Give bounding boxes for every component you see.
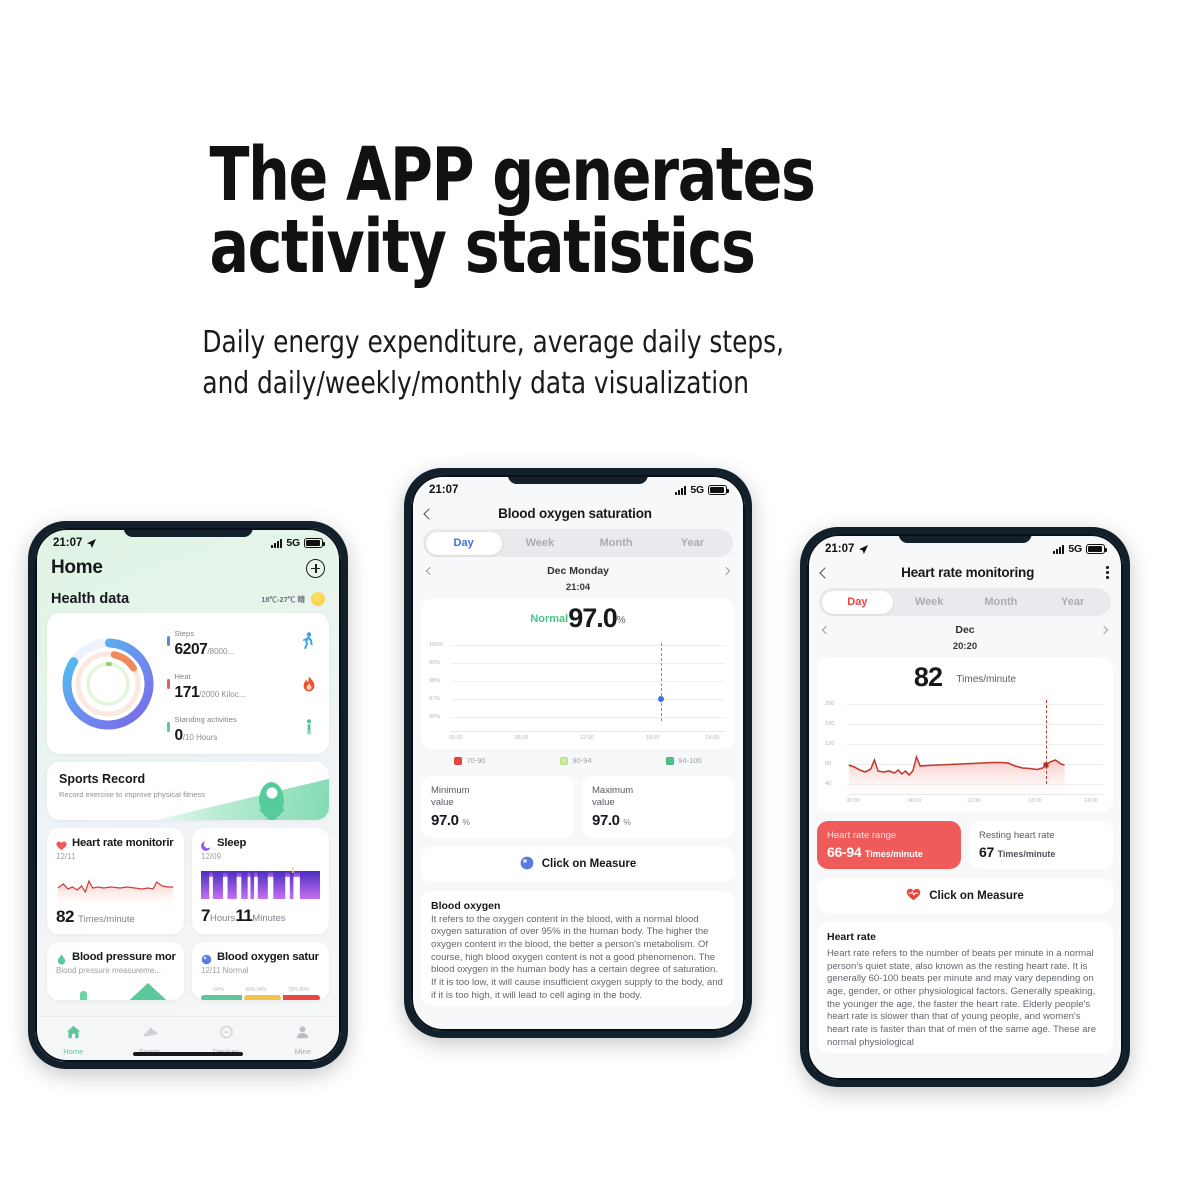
- legend-item: 90-94: [560, 756, 591, 765]
- status-left: 21:07: [53, 537, 97, 549]
- info-title: Blood oxygen: [431, 900, 725, 912]
- signal-bars-icon: [271, 539, 283, 548]
- sports-record-card[interactable]: Sports Record Record exercise to improve…: [47, 762, 329, 820]
- card-date: 12/11: [56, 852, 175, 861]
- axis-line: [847, 794, 1103, 795]
- minimum-number: 97.0: [431, 812, 459, 829]
- stat-tick: [167, 636, 170, 646]
- chart-legend: 70-90 90-94 94-100: [411, 749, 745, 768]
- gridline: [451, 663, 725, 664]
- network-label: 5G: [286, 537, 300, 549]
- y-tick: 98%: [429, 678, 440, 684]
- date-navigator: Dec: [807, 616, 1123, 638]
- card-title: Blood oxygen satur: [217, 951, 319, 963]
- card-blood-oxygen[interactable]: Blood oxygen satur 12/11 Normal <94% 90%…: [192, 942, 329, 1000]
- bo-tick: 70%-89%: [288, 987, 310, 993]
- reading-timestamp: 21:04: [411, 579, 745, 593]
- reading-unit: Times/minute: [956, 674, 1016, 685]
- bo-tick: 90%-94%: [245, 987, 267, 993]
- health-data-row: Health data 18℃-27℃ 晴: [35, 581, 341, 613]
- card-sleep[interactable]: Sleep 12/09: [192, 828, 329, 934]
- legend-label: 94-100: [678, 756, 701, 765]
- info-title: Heart rate: [827, 931, 1103, 943]
- stat-goal: /2000 Kiloc...: [199, 690, 245, 699]
- ring-stat-list: Steps 6207/8000... Heat 171/2000 Kiloc..…: [167, 623, 323, 744]
- heart-rate-area-series: [847, 698, 1103, 794]
- legend-label: 70-90: [466, 756, 485, 765]
- heart-rate-plot: 200 160 120 80 40: [825, 698, 1105, 806]
- health-data-title: Health data: [51, 591, 129, 607]
- blood-oxygen-icon: [520, 856, 534, 873]
- card-unit-2: Minutes: [252, 913, 285, 924]
- chevron-left-icon[interactable]: [822, 626, 830, 634]
- center-screen: 21:07 5G Blood oxygen saturation Day Wee…: [411, 475, 745, 1031]
- moon-icon: [201, 838, 212, 849]
- home-indicator: [133, 1052, 243, 1056]
- segment-month[interactable]: Month: [578, 532, 654, 555]
- status-time: 21:07: [429, 484, 458, 496]
- segment-month[interactable]: Month: [965, 591, 1037, 614]
- card-header: Heart rate monitorir: [56, 837, 175, 849]
- bo-scale-red: [283, 995, 320, 1000]
- card-heart-rate[interactable]: Heart rate monitorir 12/11 82 Times/minu…: [47, 828, 184, 934]
- maximum-value: 97.0 %: [592, 812, 725, 829]
- left-screen: 21:07 5G Home Health data 18℃-27℃ 晴: [35, 528, 341, 1062]
- plus-circle-icon[interactable]: [306, 559, 325, 578]
- status-left: 21:07: [429, 484, 458, 496]
- notch: [508, 475, 648, 484]
- heart-rate-sparkline: [56, 866, 175, 904]
- card-title: Heart rate monitorir: [72, 837, 173, 849]
- data-point-marker: [1044, 763, 1049, 768]
- location-arrow-icon: [86, 538, 97, 549]
- bo-scale-green: [201, 995, 242, 1000]
- card-header: Blood oxygen satur: [201, 951, 320, 963]
- resting-unit: Times/minute: [998, 849, 1056, 859]
- legend-swatch: [454, 757, 462, 765]
- segment-year[interactable]: Year: [1037, 591, 1109, 614]
- info-text: Heart rate refers to the number of beats…: [827, 948, 1103, 1049]
- health-card-grid: Heart rate monitorir 12/11 82 Times/minu…: [47, 828, 329, 1000]
- stat-number: 0: [175, 727, 183, 744]
- x-tick: 12:00: [967, 798, 981, 804]
- reading-value: 97.0: [568, 603, 617, 633]
- x-tick: 12:00: [580, 735, 594, 741]
- crosshair-line: [1046, 700, 1047, 784]
- x-tick: 24:00: [705, 735, 719, 741]
- weather-widget: 18℃-27℃ 晴: [261, 592, 325, 606]
- axis-line: [451, 731, 725, 732]
- heart-icon: [56, 838, 67, 849]
- card-value: 82 Times/minute: [56, 907, 175, 927]
- chevron-left-icon[interactable]: [423, 508, 434, 519]
- card-subtitle: 12/11 Normal: [201, 966, 320, 975]
- maximum-label-1: Maximum: [592, 785, 725, 797]
- card-header: Blood pressure mor: [56, 951, 175, 963]
- x-tick: 06:00: [908, 798, 922, 804]
- y-tick: 96%: [429, 714, 440, 720]
- minimum-unit: %: [462, 817, 469, 827]
- notch: [899, 534, 1032, 543]
- title-line-2: activity statistics: [209, 212, 880, 284]
- x-tick: 18:00: [1028, 798, 1042, 804]
- segment-year[interactable]: Year: [654, 532, 730, 555]
- y-tick: 80: [825, 761, 831, 767]
- info-text: It refers to the oxygen content in the b…: [431, 914, 725, 1003]
- heart-rate-summary-row: Heart rate range 66-94 Times/minute Rest…: [817, 821, 1113, 869]
- range-value: 66-94 Times/minute: [827, 844, 951, 860]
- measure-button[interactable]: Click on Measure: [421, 847, 735, 882]
- card-blood-pressure[interactable]: Blood pressure mor Blood pressure measur…: [47, 942, 184, 1000]
- resting-value: 67 Times/minute: [979, 844, 1103, 860]
- period-segmented-control: Day Week Month Year: [819, 588, 1111, 616]
- battery-icon: [708, 485, 727, 495]
- standing-icon: [300, 718, 317, 735]
- battery-icon: [1086, 544, 1105, 554]
- segment-week[interactable]: Week: [893, 591, 965, 614]
- card-number-2: 11: [235, 906, 252, 925]
- legend-item: 70-90: [454, 756, 485, 765]
- stat-label: Heat: [175, 672, 191, 681]
- x-tick: 24:00: [1084, 798, 1098, 804]
- stat-number: 6207: [175, 641, 208, 658]
- range-unit: Times/minute: [865, 849, 923, 859]
- sun-icon: [311, 592, 325, 606]
- gridline: [451, 699, 725, 700]
- chevron-left-icon[interactable]: [819, 567, 830, 578]
- gridline: [451, 645, 725, 646]
- chevron-left-icon[interactable]: [426, 567, 434, 575]
- reading-value: 82: [914, 662, 942, 692]
- segment-day[interactable]: Day: [822, 591, 894, 614]
- home-title: Home: [51, 557, 103, 579]
- stat-body: Heat 171/2000 Kiloc...: [175, 666, 301, 702]
- heart-icon: [906, 887, 921, 904]
- stat-goal: /10 Hours: [183, 733, 218, 742]
- card-subtitle: Blood pressure measureme...: [56, 966, 175, 975]
- status-right: 5G: [1053, 543, 1105, 555]
- period-segmented-control: Day Week Month Year: [423, 529, 733, 557]
- resting-number: 67: [979, 844, 994, 860]
- maximum-label-2: value: [592, 797, 725, 809]
- legend-label: 90-94: [572, 756, 591, 765]
- chevron-right-icon[interactable]: [722, 567, 730, 575]
- data-point-marker: [658, 696, 664, 702]
- card-number: 7: [201, 906, 210, 925]
- card-title: Blood pressure mor: [72, 951, 176, 963]
- y-tick: 97%: [429, 696, 440, 702]
- right-screen: 21:07 5G Heart rate monitoring Day Week …: [807, 534, 1123, 1080]
- minmax-row: Minimum value 97.0 % Maximum value 97.0 …: [421, 776, 735, 838]
- phone-home-screen: 21:07 5G Home Health data 18℃-27℃ 晴: [28, 521, 348, 1069]
- stat-label: Steps: [175, 629, 195, 638]
- stat-body: Steps 6207/8000...: [175, 623, 301, 659]
- minimum-value: 97.0 %: [431, 812, 564, 829]
- gridline: [451, 681, 725, 682]
- status-time: 21:07: [825, 543, 854, 555]
- stat-value: 0/10 Hours: [175, 727, 301, 745]
- stat-label: Standing activities: [175, 715, 237, 724]
- x-tick: 18:00: [646, 735, 660, 741]
- segment-week[interactable]: Week: [502, 532, 578, 555]
- network-label: 5G: [690, 484, 704, 496]
- activity-rings: [49, 630, 167, 738]
- y-tick: 99%: [429, 660, 440, 666]
- chevron-right-icon[interactable]: [1100, 626, 1108, 634]
- bo-tick: <94%: [211, 987, 224, 993]
- nav-bar: Heart rate monitoring: [807, 557, 1123, 588]
- range-number: 66-94: [827, 844, 861, 860]
- measure-label: Click on Measure: [542, 858, 637, 870]
- status-time: 21:07: [53, 537, 82, 549]
- weather-text: 18℃-27℃ 晴: [261, 594, 305, 605]
- network-label: 5G: [1068, 543, 1082, 555]
- home-icon: [66, 1025, 81, 1044]
- blood-oxygen-chart-card: Normal97.0% 100% 99% 98% 97% 96% 00:00 0…: [421, 598, 735, 749]
- stat-number: 171: [175, 684, 200, 701]
- card-unit: Hours: [210, 913, 235, 924]
- y-tick: 40: [825, 781, 831, 787]
- phone-blood-oxygen-screen: 21:07 5G Blood oxygen saturation Day Wee…: [404, 468, 752, 1038]
- notch: [124, 528, 253, 537]
- range-label: Heart rate range: [827, 830, 951, 841]
- map-pin-icon: [259, 782, 284, 814]
- phone-heart-rate-screen: 21:07 5G Heart rate monitoring Day Week …: [800, 527, 1130, 1087]
- current-reading: Normal97.0%: [429, 602, 727, 639]
- gridline: [451, 717, 725, 718]
- tab-home[interactable]: Home: [35, 1025, 112, 1056]
- resting-label: Resting heart rate: [979, 830, 1103, 841]
- walking-icon: [300, 632, 317, 649]
- blood-oxygen-plot: 100% 99% 98% 97% 96% 00:00 06:00 12:00 1…: [429, 639, 727, 743]
- bo-scale-bar: [201, 995, 320, 1000]
- reading-timestamp: 20:20: [807, 638, 1123, 652]
- maximum-unit: %: [623, 817, 630, 827]
- bo-scale-yellow: [244, 995, 281, 1000]
- status-left: 21:07: [825, 543, 869, 555]
- bp-decoration: [56, 981, 175, 1000]
- y-tick: 100%: [429, 642, 443, 648]
- minimum-value-card: Minimum value 97.0 %: [421, 776, 574, 838]
- stat-body: Standing activities 0/10 Hours: [175, 709, 301, 745]
- subtitle-line-2: and daily/weekly/monthly data visualizat…: [202, 363, 966, 404]
- hero-section: The APP generates activity statistics Da…: [0, 0, 1200, 404]
- page-subtitle: Daily energy expenditure, average daily …: [0, 284, 966, 405]
- status-right: 5G: [675, 484, 727, 496]
- tab-label: Mine: [295, 1047, 311, 1056]
- measure-label: Click on Measure: [929, 890, 1024, 902]
- crosshair-line: [661, 643, 662, 721]
- tab-label: Home: [63, 1047, 83, 1056]
- blood-oxygen-icon: [201, 952, 212, 963]
- legend-swatch: [560, 757, 568, 765]
- x-tick: 00:00: [449, 735, 463, 741]
- x-tick: 06:00: [515, 735, 529, 741]
- kebab-menu-icon[interactable]: [1106, 566, 1109, 579]
- resting-heart-rate-card: Resting heart rate 67 Times/minute: [969, 821, 1113, 869]
- card-value: 7Hours11Minutes: [201, 906, 320, 926]
- maximum-value-card: Maximum value 97.0 %: [582, 776, 735, 838]
- minimum-label-2: value: [431, 797, 564, 809]
- minimum-label-1: Minimum: [431, 785, 564, 797]
- card-title: Sleep: [217, 837, 246, 849]
- stat-steps: Steps 6207/8000...: [167, 623, 317, 659]
- date-label: Dec Monday: [547, 565, 609, 577]
- status-badge: Normal: [530, 613, 568, 625]
- person-icon: [295, 1025, 310, 1044]
- shoe-icon: [142, 1025, 158, 1044]
- card-number: 82: [56, 907, 74, 926]
- signal-bars-icon: [675, 486, 687, 495]
- bo-scale-ticks: <94% 90%-94% 70%-89%: [201, 987, 320, 993]
- flame-icon: [300, 675, 317, 692]
- status-right: 5G: [271, 537, 323, 549]
- heart-rate-range-card: Heart rate range 66-94 Times/minute: [817, 821, 961, 869]
- date-navigator: Dec Monday: [411, 557, 745, 579]
- stat-tick: [167, 722, 170, 732]
- sleep-bar-chart: [201, 867, 320, 903]
- stat-heat: Heat 171/2000 Kiloc...: [167, 666, 317, 702]
- card-date: 12/09: [201, 852, 320, 861]
- legend-item: 94-100: [666, 756, 701, 765]
- maximum-number: 97.0: [592, 812, 620, 829]
- heart-rate-chart-card: 82 Times/minute 200 160 120 80 40: [817, 657, 1113, 812]
- blood-oxygen-info-card: Blood oxygen It refers to the oxygen con…: [421, 891, 735, 1007]
- stat-value: 6207/8000...: [175, 641, 301, 659]
- subtitle-line-1: Daily energy expenditure, average daily …: [202, 325, 784, 360]
- bp-drop-icon: [56, 952, 67, 963]
- activity-ring-card[interactable]: Steps 6207/8000... Heat 171/2000 Kiloc..…: [47, 613, 329, 754]
- legend-swatch: [666, 757, 674, 765]
- location-arrow-icon: [858, 544, 869, 555]
- heart-rate-info-card: Heart rate Heart rate refers to the numb…: [817, 922, 1113, 1053]
- card-header: Sleep: [201, 837, 320, 849]
- card-unit: Times/minute: [78, 914, 135, 925]
- y-tick: 200: [825, 701, 834, 707]
- nav-bar: Blood oxygen saturation: [411, 498, 745, 529]
- signal-bars-icon: [1053, 545, 1065, 554]
- watch-icon: [219, 1025, 234, 1044]
- segment-day[interactable]: Day: [426, 532, 502, 555]
- current-reading: 82 Times/minute: [825, 661, 1105, 698]
- y-tick: 160: [825, 721, 834, 727]
- date-label: Dec: [955, 624, 974, 636]
- reading-unit: %: [617, 615, 626, 626]
- page-title: The APP generates activity statistics: [0, 0, 880, 284]
- stat-standing: Standing activities 0/10 Hours: [167, 709, 317, 745]
- battery-icon: [304, 538, 323, 548]
- activity-ring-svg: [49, 630, 167, 738]
- stat-value: 171/2000 Kiloc...: [175, 684, 301, 702]
- y-tick: 120: [825, 741, 834, 747]
- x-tick: 00:00: [846, 798, 860, 804]
- tab-mine[interactable]: Mine: [265, 1025, 342, 1056]
- home-header: Home: [35, 551, 341, 581]
- stat-goal: /8000...: [207, 647, 234, 656]
- nav-title: Heart rate monitoring: [901, 565, 1034, 580]
- nav-title: Blood oxygen saturation: [498, 506, 652, 521]
- measure-button[interactable]: Click on Measure: [817, 878, 1113, 913]
- stat-tick: [167, 679, 170, 689]
